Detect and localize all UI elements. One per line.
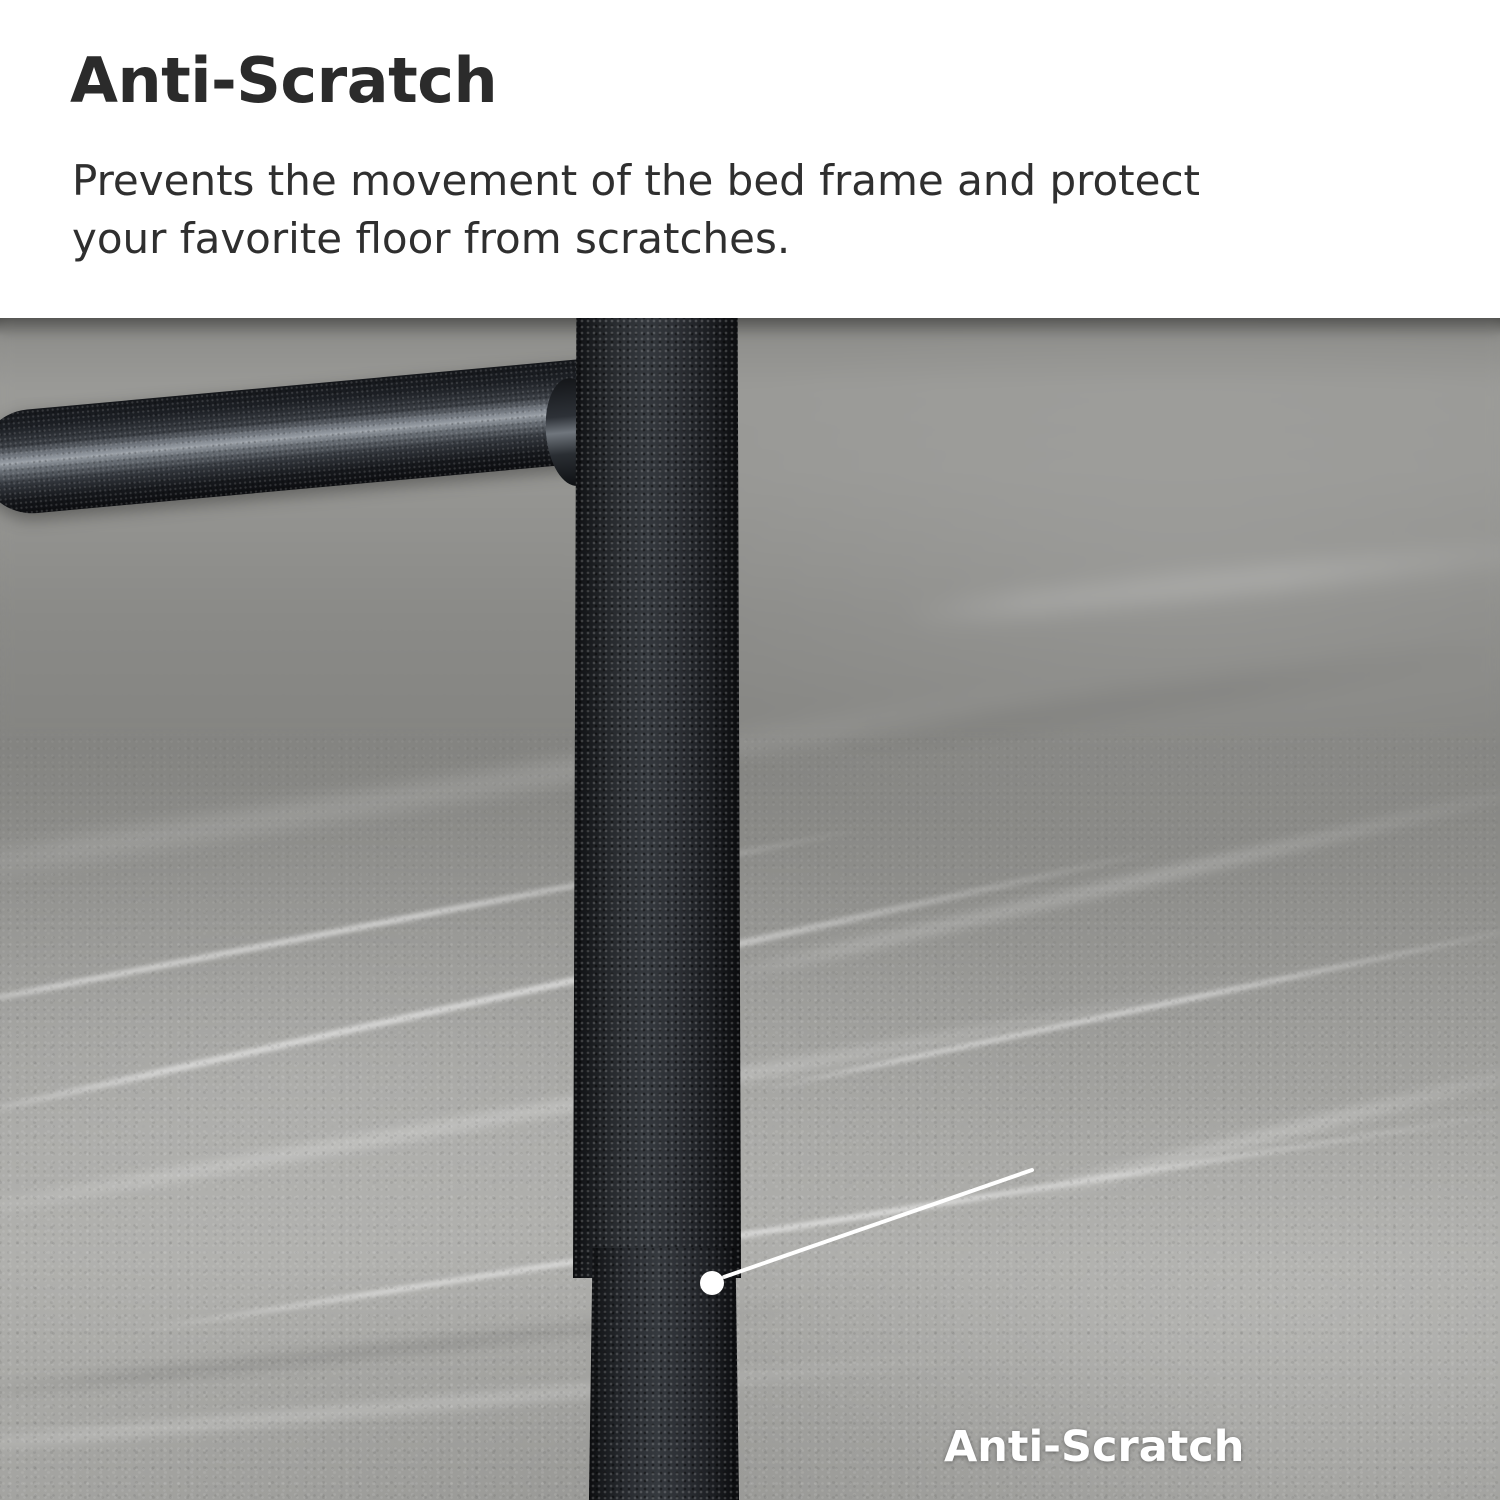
header-description-line-2: your favorite floor from scratches. (72, 210, 1302, 268)
header-description-line-1: Prevents the movement of the bed frame a… (72, 152, 1302, 210)
product-photo: Anti-Scratch (0, 318, 1500, 1500)
callout-anchor-dot (700, 1271, 724, 1295)
product-feature-image: Anti-Scratch Prevents the movement of th… (0, 0, 1500, 1500)
bed-frame-leg (573, 318, 741, 1278)
callout-label: Anti-Scratch (944, 1422, 1244, 1472)
page-title: Anti-Scratch (70, 47, 497, 115)
header-panel: Anti-Scratch Prevents the movement of th… (0, 0, 1500, 318)
header-description: Prevents the movement of the bed frame a… (72, 152, 1302, 268)
